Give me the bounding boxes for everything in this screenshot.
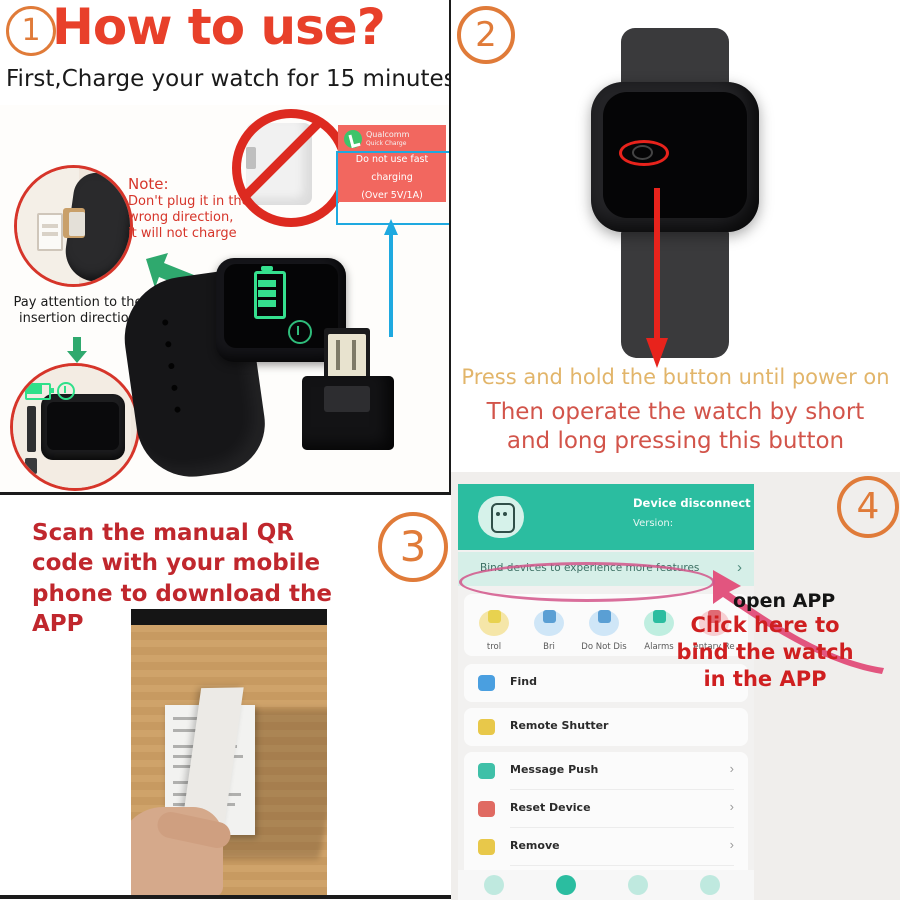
list-item-label: Message Push (510, 763, 598, 776)
power-button-icon (57, 382, 75, 400)
list-item[interactable]: Reset Device› (464, 790, 748, 828)
reset-icon (478, 801, 495, 817)
bottom-nav[interactable] (458, 870, 754, 900)
brightness-icon (534, 610, 564, 636)
do-not-disturb-icon (589, 610, 619, 636)
step-number-4: 4 (837, 476, 899, 538)
panel-scan-qr: 3 Scan the manual QR code with your mobi… (0, 496, 449, 900)
step-number-2: 2 (457, 6, 515, 64)
manual-paper-photo (131, 609, 327, 897)
list-item-label: Remote Shutter (510, 719, 608, 732)
chevron-right-icon: › (730, 761, 734, 776)
page-title: How to use? (52, 0, 385, 56)
smartwatch-icon (569, 28, 781, 358)
quick-icon-do-not-disturb-icon[interactable]: Do Not Dis (580, 604, 628, 652)
blue-highlight-box (336, 151, 449, 225)
no-entry-icon (232, 109, 350, 227)
quick-icon-remote-control-icon[interactable]: trol (470, 604, 518, 652)
operate-instruction: Then operate the watch by short and long… (455, 398, 896, 456)
pink-ellipse-highlight (459, 562, 715, 602)
quick-icon-brightness-icon[interactable]: Bri (525, 604, 573, 652)
remote-control-icon-glyph (488, 610, 501, 623)
panel-divider-vertical (449, 0, 451, 492)
panel-divider-bottom (0, 895, 451, 899)
panel-how-to-use: 1 How to use? First,Charge your watch fo… (0, 0, 449, 492)
list-item-label: Find (510, 675, 537, 688)
red-arrow-down-icon (644, 188, 670, 368)
device-nav-icon[interactable] (484, 875, 504, 895)
panel-divider-horizontal (0, 492, 451, 495)
list-item[interactable]: Message Push› (464, 752, 748, 790)
list-item[interactable]: Remove› (464, 828, 748, 866)
charge-subtitle: First,Charge your watch for 15 minutes (6, 66, 449, 92)
remote-control-icon (479, 610, 509, 636)
click-here-annotation: Click here to bind the watch in the APP (625, 612, 900, 693)
profile-nav-icon[interactable] (700, 875, 720, 895)
unlink-icon (478, 839, 495, 855)
do-not-disturb-icon-glyph (598, 610, 611, 623)
list-item[interactable]: Remote Shutter (464, 708, 748, 746)
note-body: Don't plug it in the wrong direction, it… (128, 194, 250, 243)
brightness-icon-glyph (543, 610, 556, 623)
panel-power-on: 2 Press and hold the button until power … (451, 0, 900, 470)
charging-illustration: Note: Don't plug it in the wrong directi… (0, 105, 449, 492)
chevron-right-icon: › (730, 799, 734, 814)
note-text: Note: Don't plug it in the wrong directi… (128, 175, 250, 243)
device-status: Device disconnect (633, 496, 751, 510)
sport-nav-icon[interactable] (628, 875, 648, 895)
list-item-label: Reset Device (510, 801, 591, 814)
open-app-annotation: open APP (733, 590, 835, 612)
qualcomm-brand: Qualcomm Quick Charge (366, 129, 409, 149)
menu-group-shutter: Remote Shutter (464, 708, 748, 746)
usb-wrong-direction-closeup (14, 165, 133, 287)
list-item-label: Remove (510, 839, 560, 852)
qualcomm-logo-icon (344, 130, 362, 148)
send-icon (478, 763, 495, 779)
find-icon (478, 675, 495, 691)
avatar (478, 496, 524, 538)
note-heading: Note: (128, 175, 250, 194)
chevron-right-icon: › (730, 837, 734, 852)
step-number-3: 3 (378, 512, 448, 582)
infographic-page: 1 How to use? First,Charge your watch fo… (0, 0, 900, 900)
quick-icon-label: trol (470, 642, 518, 652)
step-number-1: 1 (6, 6, 56, 56)
version-label: Version: (633, 518, 673, 529)
health-nav-icon[interactable] (556, 875, 576, 895)
green-arrow-down-icon (66, 337, 88, 363)
quick-icon-label: Bri (525, 642, 573, 652)
watch-face-icon (491, 503, 515, 533)
camera-icon (478, 719, 495, 735)
quick-icon-label: Do Not Dis (580, 642, 628, 652)
app-header: Device disconnect Version: (458, 484, 754, 550)
power-on-instruction: Press and hold the button until power on (455, 365, 896, 389)
watch-with-usb-dock (120, 250, 400, 490)
